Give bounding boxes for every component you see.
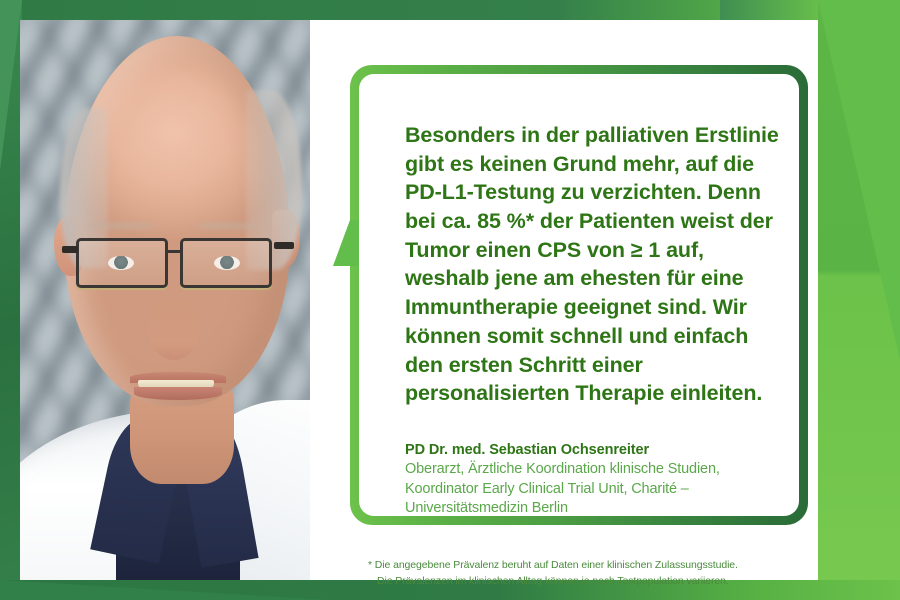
bubble-tail-pointer bbox=[333, 220, 350, 266]
quote-speech-bubble: Besonders in der palliativen Erstlinie g… bbox=[350, 65, 808, 525]
frame-facet-left-triangle bbox=[0, 0, 22, 170]
footnote-line-2: Die Prävalenzen im klinischen Alltag kön… bbox=[368, 574, 808, 590]
doctor-portrait-photo bbox=[20, 20, 310, 580]
attribution-role-line-1: Oberarzt, Ärztliche Koordination klinisc… bbox=[405, 460, 783, 480]
bubble-content: Besonders in der palliativen Erstlinie g… bbox=[405, 121, 783, 519]
eyeglasses-icon bbox=[62, 238, 294, 294]
quote-text: Besonders in der palliativen Erstlinie g… bbox=[405, 121, 783, 408]
nose bbox=[148, 296, 200, 360]
attribution-role-line-3: Universitätsmedizin Berlin bbox=[405, 499, 783, 519]
frame-facet-bottom-left bbox=[0, 580, 330, 600]
footnote: * Die angegebene Prävalenz beruht auf Da… bbox=[368, 558, 808, 590]
attribution-block: PD Dr. med. Sebastian Ochsenreiter Obera… bbox=[405, 440, 783, 519]
glasses-lens-left bbox=[76, 238, 168, 288]
attribution-role: Oberarzt, Ärztliche Koordination klinisc… bbox=[405, 460, 783, 519]
lower-lip bbox=[134, 387, 222, 400]
white-content-card: Besonders in der palliativen Erstlinie g… bbox=[20, 20, 818, 580]
glasses-bridge bbox=[168, 250, 182, 253]
frame-facet-right-triangle bbox=[818, 0, 900, 360]
eyebrow-left bbox=[86, 222, 156, 230]
attribution-role-line-2: Koordinator Early Clinical Trial Unit, C… bbox=[405, 480, 783, 500]
glasses-temple-left bbox=[62, 246, 78, 253]
mouth bbox=[130, 372, 226, 398]
footnote-line-1: * Die angegebene Prävalenz beruht auf Da… bbox=[368, 558, 808, 574]
attribution-name: PD Dr. med. Sebastian Ochsenreiter bbox=[405, 440, 783, 461]
glasses-lens-right bbox=[180, 238, 272, 288]
eyebrow-right bbox=[194, 222, 264, 230]
glasses-temple-right bbox=[274, 242, 294, 249]
